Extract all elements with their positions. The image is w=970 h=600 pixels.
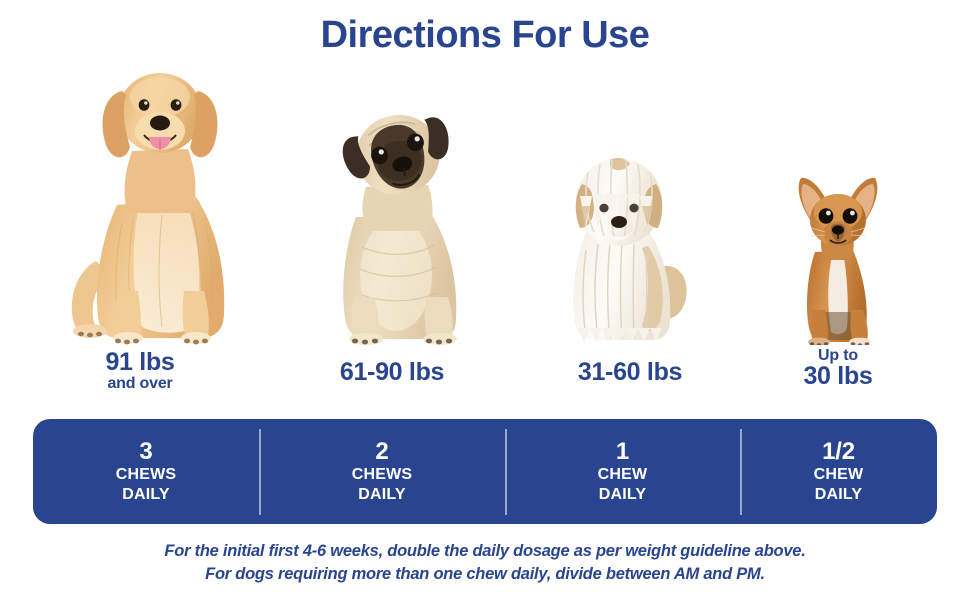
- dosage-quantity-3: 1: [616, 439, 629, 466]
- weight-label-3: 31-60 lbs: [550, 360, 710, 386]
- dosage-quantity-4: 1/2: [822, 439, 855, 466]
- dog-image-chihuahua: [783, 170, 893, 345]
- directions-for-use-infographic: Directions For Use: [0, 0, 970, 600]
- footnote: For the initial first 4-6 weeks, double …: [0, 540, 970, 587]
- footnote-line-1: For the initial first 4-6 weeks, double …: [0, 540, 970, 563]
- dog-image-golden-retriever: [44, 55, 256, 345]
- dosage-column-2: 2 CHEWS DAILY: [259, 419, 505, 524]
- dosage-quantity-1: 3: [139, 439, 152, 466]
- dosage-unit-4: CHEW: [814, 465, 864, 485]
- weight-label-4: Up to 30 lbs: [758, 348, 918, 390]
- dosage-column-1: 3 CHEWS DAILY: [33, 419, 259, 524]
- dosage-column-4: 1/2 CHEW DAILY: [740, 419, 937, 524]
- dosage-frequency-1: DAILY: [122, 485, 170, 505]
- dosage-frequency-2: DAILY: [358, 485, 406, 505]
- weight-label-1-primary: 91 lbs: [60, 350, 220, 376]
- dosage-unit-3: CHEW: [598, 465, 648, 485]
- dosage-frequency-3: DAILY: [599, 485, 647, 505]
- weight-label-3-primary: 31-60 lbs: [550, 360, 710, 386]
- dosage-unit-2: CHEWS: [352, 465, 413, 485]
- weight-label-1: 91 lbs and over: [60, 350, 220, 392]
- weight-label-1-secondary: and over: [60, 376, 220, 392]
- weight-label-2: 61-90 lbs: [312, 360, 472, 386]
- dosage-quantity-2: 2: [375, 439, 388, 466]
- dog-image-pug: [322, 97, 472, 345]
- dosage-frequency-4: DAILY: [815, 485, 863, 505]
- dog-image-shih-tzu: [552, 150, 692, 345]
- dosage-column-3: 1 CHEW DAILY: [505, 419, 740, 524]
- weight-label-4-primary: 30 lbs: [758, 364, 918, 390]
- dosage-bar: 3 CHEWS DAILY 2 CHEWS DAILY 1 CHEW DAILY…: [33, 419, 937, 524]
- dosage-unit-1: CHEWS: [116, 465, 177, 485]
- footnote-line-2: For dogs requiring more than one chew da…: [0, 563, 970, 586]
- dog-image-row: [0, 55, 970, 345]
- weight-label-row: 91 lbs and over 61-90 lbs 31-60 lbs Up t…: [0, 348, 970, 410]
- page-title: Directions For Use: [0, 14, 970, 57]
- weight-label-2-primary: 61-90 lbs: [312, 360, 472, 386]
